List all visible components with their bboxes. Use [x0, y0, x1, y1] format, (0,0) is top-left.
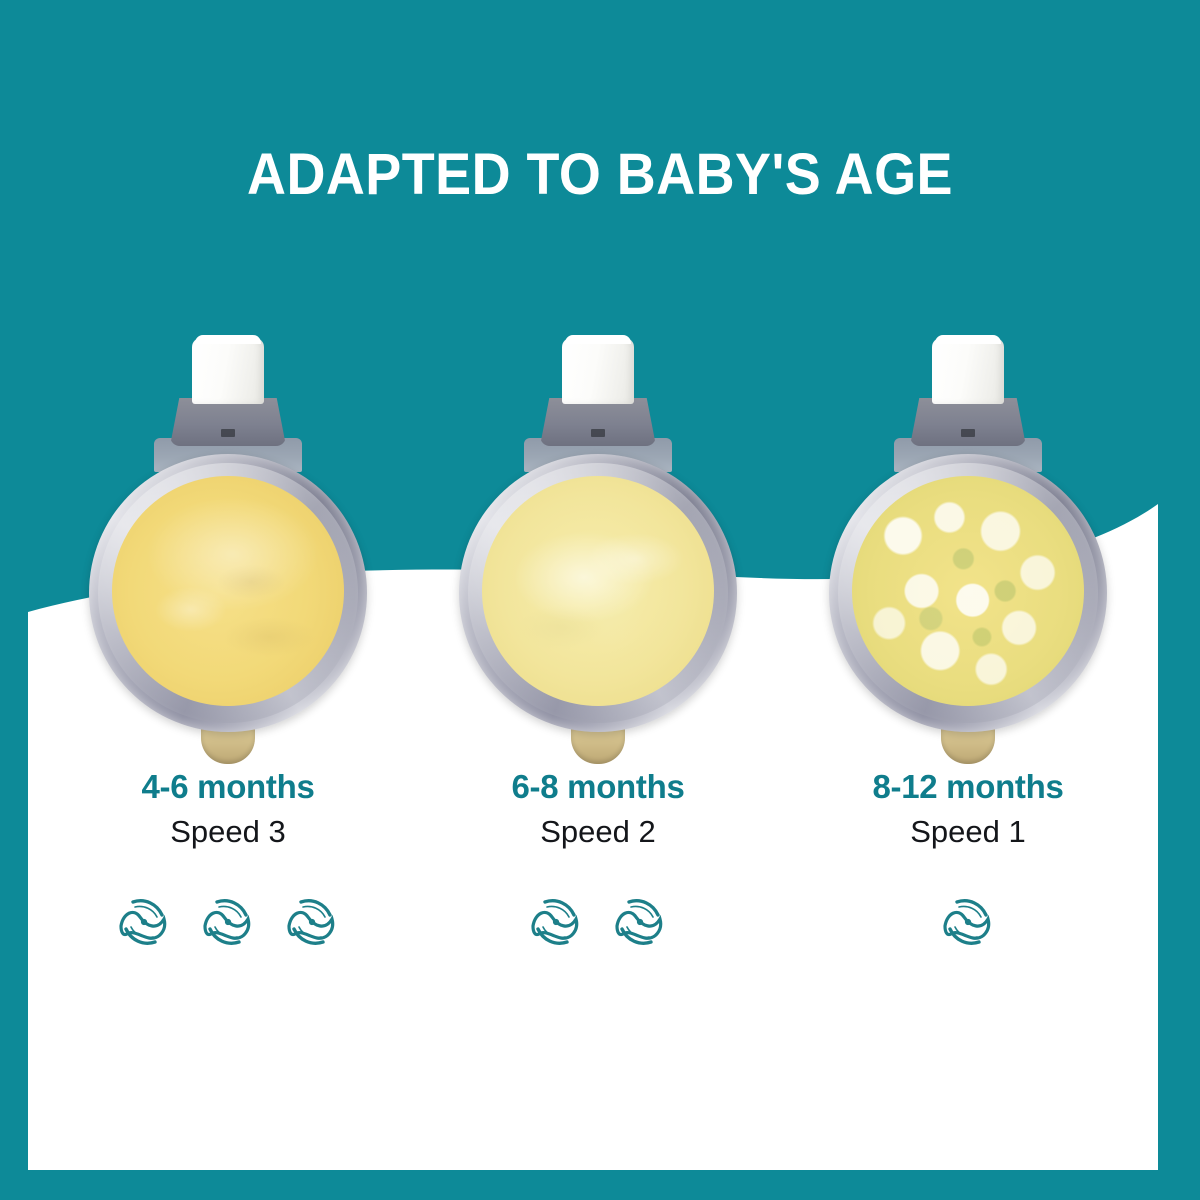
- blender-collar: [170, 398, 286, 446]
- blade-speed-icon: [933, 886, 1003, 956]
- speed-icon-row: [798, 886, 1138, 956]
- blender-handle: [932, 338, 1004, 404]
- food-surface: [852, 476, 1084, 706]
- age-label: 4-6 months: [58, 768, 398, 806]
- blender-handle: [192, 338, 264, 404]
- blender-bowl: [829, 454, 1107, 732]
- speed-label: Speed 3: [58, 814, 398, 850]
- blender-collar: [540, 398, 656, 446]
- blade-speed-icon: [277, 886, 347, 956]
- stage-column-0: 4-6 months Speed 3: [58, 330, 398, 956]
- food-surface: [112, 476, 344, 706]
- food-texture: [852, 476, 1084, 706]
- age-label: 8-12 months: [798, 768, 1138, 806]
- blender-bowl-icon: [58, 330, 398, 760]
- blender-handle: [562, 338, 634, 404]
- page-title: ADAPTED TO BABY'S AGE: [42, 145, 1158, 206]
- food-texture: [482, 476, 714, 706]
- poster-canvas: ADAPTED TO BABY'S AGE 4-6 months Speed 3: [0, 0, 1200, 1200]
- blender-bowl: [459, 454, 737, 732]
- blade-speed-icon: [109, 886, 179, 956]
- blender-bowl-icon: [798, 330, 1138, 760]
- speed-label: Speed 2: [428, 814, 768, 850]
- blade-speed-icon: [605, 886, 675, 956]
- blade-speed-icon: [193, 886, 263, 956]
- food-surface: [482, 476, 714, 706]
- blender-bowl-icon: [428, 330, 768, 760]
- blender-bowl: [89, 454, 367, 732]
- speed-label: Speed 1: [798, 814, 1138, 850]
- stage-column-2: 8-12 months Speed 1: [798, 330, 1138, 956]
- speed-icon-row: [58, 886, 398, 956]
- speed-icon-row: [428, 886, 768, 956]
- blender-collar: [910, 398, 1026, 446]
- food-texture: [112, 476, 344, 706]
- age-label: 6-8 months: [428, 768, 768, 806]
- stage-column-1: 6-8 months Speed 2: [428, 330, 768, 956]
- blade-speed-icon: [521, 886, 591, 956]
